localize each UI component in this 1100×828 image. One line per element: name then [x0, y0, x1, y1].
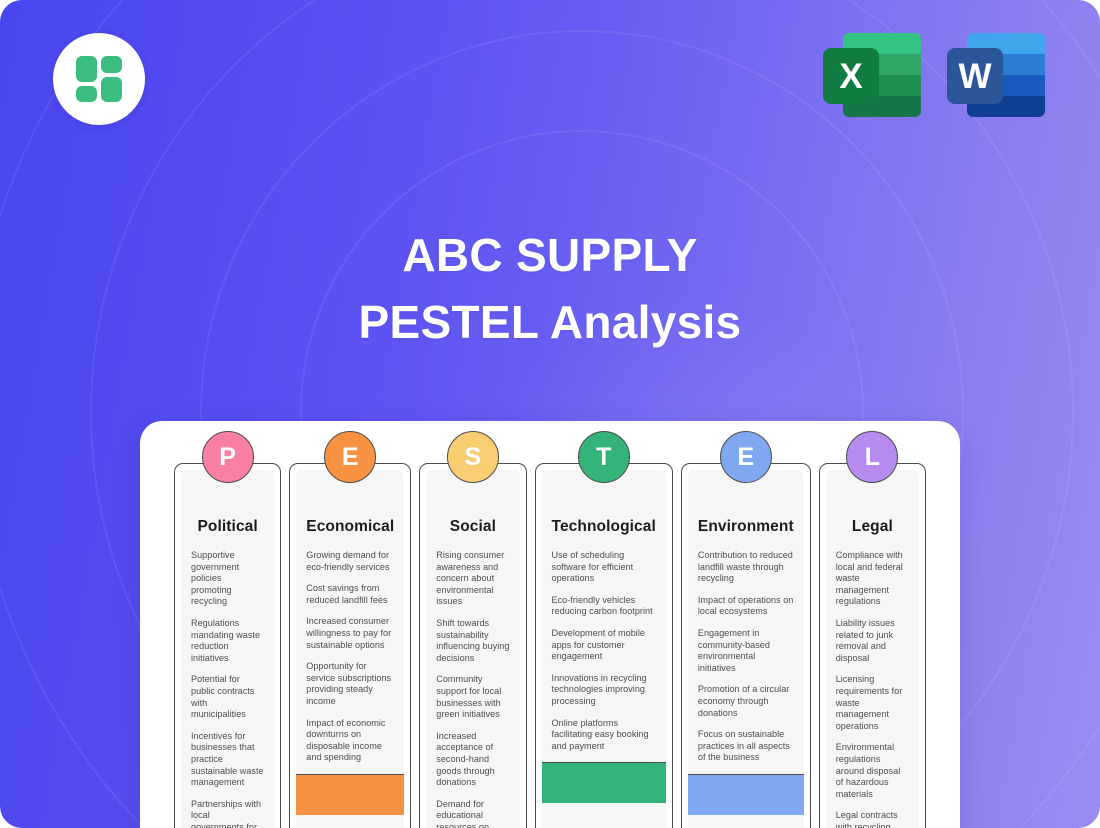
- pestel-point-list: Supportive government policies promoting…: [191, 550, 264, 828]
- pestel-column-economical[interactable]: EEconomicalGrowing demand for eco-friend…: [289, 463, 411, 828]
- word-letter: W: [947, 48, 1003, 104]
- pestel-point: Incentives for businesses that practice …: [191, 731, 264, 789]
- pestel-column-panel: EconomicalGrowing demand for eco-friendl…: [296, 470, 404, 828]
- pestel-column-panel: LegalCompliance with local and federal w…: [826, 470, 919, 828]
- page-title: ABC SUPPLY PESTEL Analysis: [0, 222, 1100, 356]
- pestel-point: Demand for educational resources on wast…: [436, 799, 509, 828]
- pestel-point: Engagement in community-based environmen…: [698, 628, 794, 674]
- pestel-column-heading: Political: [191, 518, 264, 536]
- pestel-column-political[interactable]: PPoliticalSupportive government policies…: [174, 463, 281, 828]
- slide-canvas: X W ABC SUPPLY PESTEL Analysis PPolitica…: [0, 0, 1100, 828]
- pestel-point: Supportive government policies promoting…: [191, 550, 264, 608]
- pestel-column-color-bar: [296, 774, 404, 815]
- pestel-column-legal[interactable]: LLegalCompliance with local and federal …: [819, 463, 926, 828]
- pestel-point: Environmental regulations around disposa…: [836, 742, 909, 800]
- pestel-column-color-bar: [688, 774, 804, 815]
- pestel-point: Liability issues related to junk removal…: [836, 618, 909, 664]
- pestel-point-list: Contribution to reduced landfill waste t…: [698, 550, 794, 774]
- pestel-point: Community support for local businesses w…: [436, 674, 509, 720]
- pestel-column-panel: TechnologicalUse of scheduling software …: [542, 470, 666, 828]
- pestel-point: Cost savings from reduced landfill fees: [306, 583, 394, 606]
- pestel-column-color-bar: [542, 762, 666, 803]
- pestel-letter-badge: T: [578, 431, 630, 483]
- pestel-letter-badge: P: [202, 431, 254, 483]
- pestel-column-heading: Economical: [306, 518, 394, 536]
- pestel-columns: PPoliticalSupportive government policies…: [174, 463, 926, 828]
- pestel-column-technological[interactable]: TTechnologicalUse of scheduling software…: [535, 463, 673, 828]
- excel-letter: X: [823, 48, 879, 104]
- brand-logo: [53, 33, 145, 125]
- pestel-point-list: Compliance with local and federal waste …: [836, 550, 909, 828]
- pestel-column-environment[interactable]: EEnvironmentContribution to reduced land…: [681, 463, 811, 828]
- pestel-point: Development of mobile apps for customer …: [552, 628, 656, 663]
- word-icon[interactable]: W: [947, 26, 1045, 124]
- pestel-point: Promotion of a circular economy through …: [698, 684, 794, 719]
- excel-icon[interactable]: X: [823, 26, 921, 124]
- pestel-point-list: Use of scheduling software for efficient…: [552, 550, 656, 762]
- pestel-letter-badge: S: [447, 431, 499, 483]
- pestel-column-heading: Technological: [552, 518, 656, 536]
- pestel-point: Licensing requirements for waste managem…: [836, 674, 909, 732]
- pestel-point: Partnerships with local governments for …: [191, 799, 264, 828]
- pestel-point: Focus on sustainable practices in all as…: [698, 729, 794, 764]
- pestel-card: PPoliticalSupportive government policies…: [140, 421, 960, 828]
- pestel-point: Increased consumer willingness to pay fo…: [306, 616, 394, 651]
- grid-squares-logo-icon: [76, 56, 122, 102]
- pestel-point: Compliance with local and federal waste …: [836, 550, 909, 608]
- title-line-2: PESTEL Analysis: [0, 289, 1100, 356]
- pestel-point: Online platforms facilitating easy booki…: [552, 718, 656, 753]
- pestel-point-list: Rising consumer awareness and concern ab…: [436, 550, 509, 828]
- pestel-point: Increased acceptance of second-hand good…: [436, 731, 509, 789]
- pestel-column-heading: Social: [436, 518, 509, 536]
- pestel-column-panel: PoliticalSupportive government policies …: [181, 470, 274, 828]
- pestel-point: Rising consumer awareness and concern ab…: [436, 550, 509, 608]
- pestel-point: Impact of operations on local ecosystems: [698, 595, 794, 618]
- pestel-point: Growing demand for eco-friendly services: [306, 550, 394, 573]
- export-format-icons: X W: [823, 26, 1045, 124]
- pestel-point: Impact of economic downturns on disposab…: [306, 718, 394, 764]
- pestel-point: Shift towards sustainability influencing…: [436, 618, 509, 664]
- pestel-letter-badge: L: [846, 431, 898, 483]
- pestel-point: Opportunity for service subscriptions pr…: [306, 661, 394, 707]
- pestel-point-list: Growing demand for eco-friendly services…: [306, 550, 394, 774]
- pestel-point: Eco-friendly vehicles reducing carbon fo…: [552, 595, 656, 618]
- pestel-column-panel: EnvironmentContribution to reduced landf…: [688, 470, 804, 828]
- pestel-column-panel: SocialRising consumer awareness and conc…: [426, 470, 519, 828]
- pestel-column-heading: Legal: [836, 518, 909, 536]
- pestel-column-social[interactable]: SSocialRising consumer awareness and con…: [419, 463, 526, 828]
- pestel-letter-badge: E: [720, 431, 772, 483]
- pestel-column-heading: Environment: [698, 518, 794, 536]
- pestel-point: Regulations mandating waste reduction in…: [191, 618, 264, 664]
- pestel-point: Contribution to reduced landfill waste t…: [698, 550, 794, 585]
- pestel-letter-badge: E: [324, 431, 376, 483]
- pestel-point: Innovations in recycling technologies im…: [552, 673, 656, 708]
- pestel-point: Use of scheduling software for efficient…: [552, 550, 656, 585]
- pestel-point: Legal contracts with recycling centers a…: [836, 810, 909, 828]
- pestel-point: Potential for public contracts with muni…: [191, 674, 264, 720]
- title-line-1: ABC SUPPLY: [0, 222, 1100, 289]
